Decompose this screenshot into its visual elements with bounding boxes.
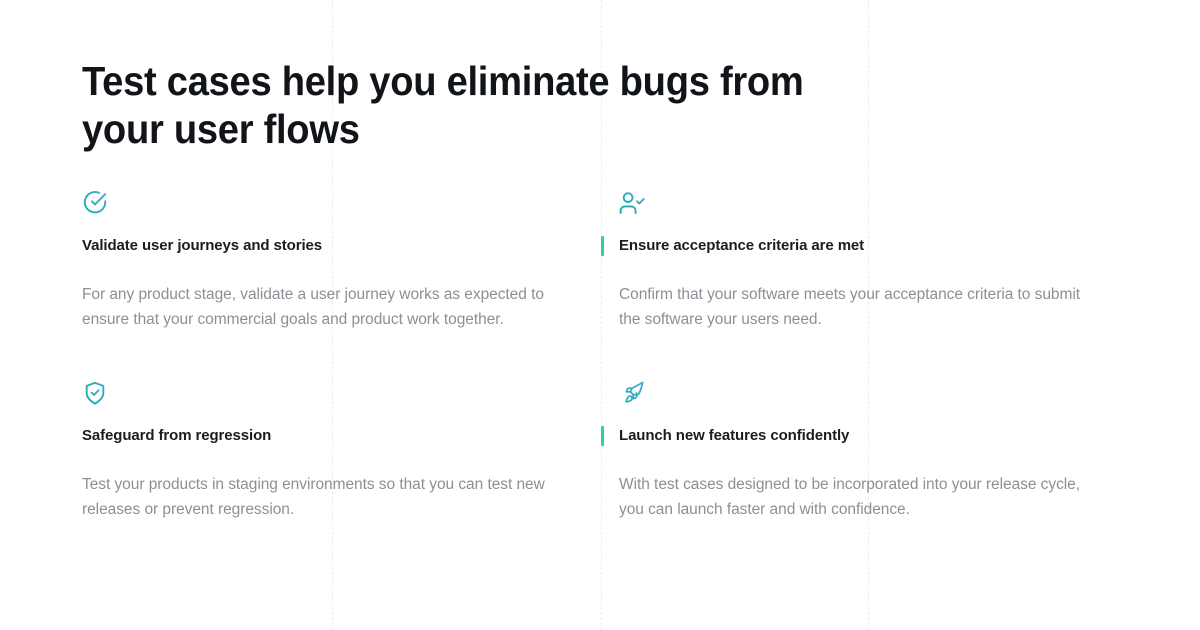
circle-check-icon <box>82 190 108 216</box>
feature-body: With test cases designed to be incorpora… <box>619 472 1102 522</box>
feature-body: For any product stage, validate a user j… <box>82 282 577 332</box>
feature-grid: Validate user journeys and stories For a… <box>82 190 1122 522</box>
feature-title: Safeguard from regression <box>82 426 271 446</box>
feature-body: Test your products in staging environmen… <box>82 472 577 522</box>
feature-title: Validate user journeys and stories <box>82 236 322 256</box>
feature-title: Ensure acceptance criteria are met <box>619 236 864 256</box>
feature-card-launch-features: Launch new features confidently With tes… <box>619 380 1122 522</box>
accent-bar <box>601 426 604 446</box>
feature-title-row: Validate user journeys and stories <box>82 236 599 256</box>
feature-section-page: Test cases help you eliminate bugs from … <box>0 0 1200 630</box>
feature-title-row: Ensure acceptance criteria are met <box>619 236 1102 256</box>
page-title: Test cases help you eliminate bugs from … <box>82 0 817 153</box>
feature-card-safeguard-regression: Safeguard from regression Test your prod… <box>82 380 619 522</box>
feature-card-acceptance-criteria: Ensure acceptance criteria are met Confi… <box>619 190 1122 332</box>
feature-title-row: Safeguard from regression <box>82 426 599 446</box>
feature-title-row: Launch new features confidently <box>619 426 1102 446</box>
feature-title: Launch new features confidently <box>619 426 849 446</box>
user-check-icon <box>619 190 645 216</box>
content-wrapper: Test cases help you eliminate bugs from … <box>82 0 1122 630</box>
feature-body: Confirm that your software meets your ac… <box>619 282 1102 332</box>
rocket-icon <box>619 380 645 406</box>
accent-bar <box>601 236 604 256</box>
feature-card-validate-user-journeys: Validate user journeys and stories For a… <box>82 190 619 332</box>
shield-check-icon <box>82 380 108 406</box>
